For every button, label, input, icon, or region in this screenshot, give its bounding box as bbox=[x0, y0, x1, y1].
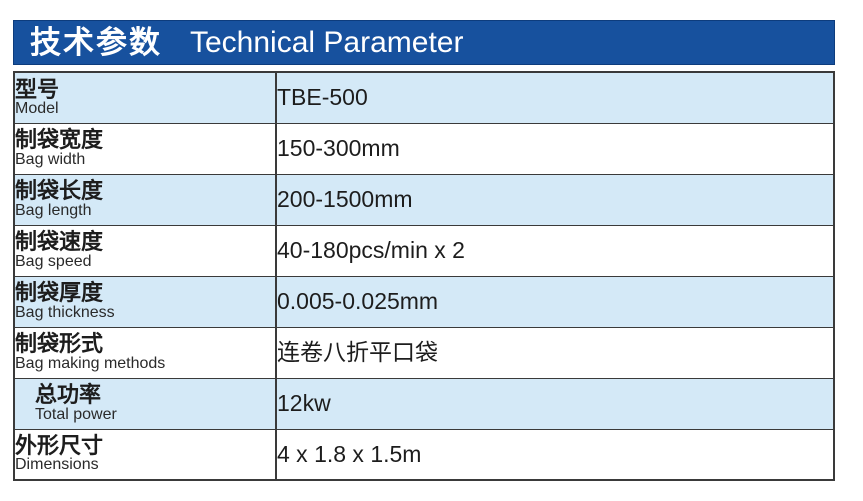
parameter-label-english: Bag thickness bbox=[15, 305, 275, 321]
parameter-value-cell: 连卷八折平口袋 bbox=[276, 327, 834, 378]
parameter-label-cell: 总功率 Total power bbox=[14, 378, 276, 429]
parameter-label-english: Bag length bbox=[15, 203, 275, 219]
table-row: 型号 Model TBE-500 bbox=[14, 72, 834, 123]
parameter-label-cell: 制袋宽度 Bag width bbox=[14, 123, 276, 174]
technical-parameter-sheet: 技术参数 Technical Parameter 型号 Model TBE-50… bbox=[13, 20, 835, 481]
parameter-value-cell: 40-180pcs/min x 2 bbox=[276, 225, 834, 276]
table-header-bar: 技术参数 Technical Parameter bbox=[13, 20, 835, 65]
parameter-label-cell: 制袋速度 Bag speed bbox=[14, 225, 276, 276]
parameter-table: 型号 Model TBE-500 制袋宽度 Bag width 150-300m… bbox=[13, 71, 835, 481]
parameter-value-cell: TBE-500 bbox=[276, 72, 834, 123]
table-row: 制袋形式 Bag making methods 连卷八折平口袋 bbox=[14, 327, 834, 378]
parameter-label-chinese: 总功率 bbox=[35, 384, 275, 406]
parameter-label-chinese: 制袋长度 bbox=[15, 180, 275, 202]
header-title-chinese: 技术参数 bbox=[30, 27, 162, 58]
parameter-label-cell: 制袋形式 Bag making methods bbox=[14, 327, 276, 378]
parameter-label-chinese: 制袋厚度 bbox=[15, 282, 275, 304]
parameter-value: 连卷八折平口袋 bbox=[277, 340, 833, 365]
parameter-value: 150-300mm bbox=[277, 136, 833, 161]
parameter-value-cell: 12kw bbox=[276, 378, 834, 429]
parameter-value-cell: 4 x 1.8 x 1.5m bbox=[276, 429, 834, 480]
parameter-label-cell: 制袋长度 Bag length bbox=[14, 174, 276, 225]
parameter-value: 0.005-0.025mm bbox=[277, 289, 833, 314]
parameter-label-cell: 型号 Model bbox=[14, 72, 276, 123]
parameter-label-english: Bag speed bbox=[15, 254, 275, 270]
parameter-value: TBE-500 bbox=[277, 85, 833, 110]
parameter-label-english: Dimensions bbox=[15, 457, 275, 473]
parameter-value-cell: 0.005-0.025mm bbox=[276, 276, 834, 327]
table-row: 总功率 Total power 12kw bbox=[14, 378, 834, 429]
parameter-label-cell: 外形尺寸 Dimensions bbox=[14, 429, 276, 480]
parameter-label-english: Bag width bbox=[15, 152, 275, 168]
parameter-value: 200-1500mm bbox=[277, 187, 833, 212]
table-row: 制袋厚度 Bag thickness 0.005-0.025mm bbox=[14, 276, 834, 327]
parameter-label-chinese: 制袋形式 bbox=[15, 333, 275, 355]
parameter-value: 40-180pcs/min x 2 bbox=[277, 238, 833, 263]
parameter-label-english: Model bbox=[15, 101, 275, 117]
parameter-value-cell: 200-1500mm bbox=[276, 174, 834, 225]
parameter-table-body: 型号 Model TBE-500 制袋宽度 Bag width 150-300m… bbox=[14, 72, 834, 480]
parameter-label-chinese: 制袋宽度 bbox=[15, 129, 275, 151]
parameter-label-cell: 制袋厚度 Bag thickness bbox=[14, 276, 276, 327]
parameter-label-english: Total power bbox=[35, 407, 275, 423]
table-row: 制袋长度 Bag length 200-1500mm bbox=[14, 174, 834, 225]
parameter-value-cell: 150-300mm bbox=[276, 123, 834, 174]
header-title-english: Technical Parameter bbox=[190, 28, 463, 58]
table-row: 制袋宽度 Bag width 150-300mm bbox=[14, 123, 834, 174]
table-row: 制袋速度 Bag speed 40-180pcs/min x 2 bbox=[14, 225, 834, 276]
parameter-label-english: Bag making methods bbox=[15, 356, 275, 372]
parameter-value: 4 x 1.8 x 1.5m bbox=[277, 442, 833, 467]
parameter-label-chinese: 型号 bbox=[15, 79, 275, 101]
parameter-label-chinese: 外形尺寸 bbox=[15, 435, 275, 457]
parameter-label-chinese: 制袋速度 bbox=[15, 231, 275, 253]
parameter-value: 12kw bbox=[277, 391, 833, 416]
table-row: 外形尺寸 Dimensions 4 x 1.8 x 1.5m bbox=[14, 429, 834, 480]
